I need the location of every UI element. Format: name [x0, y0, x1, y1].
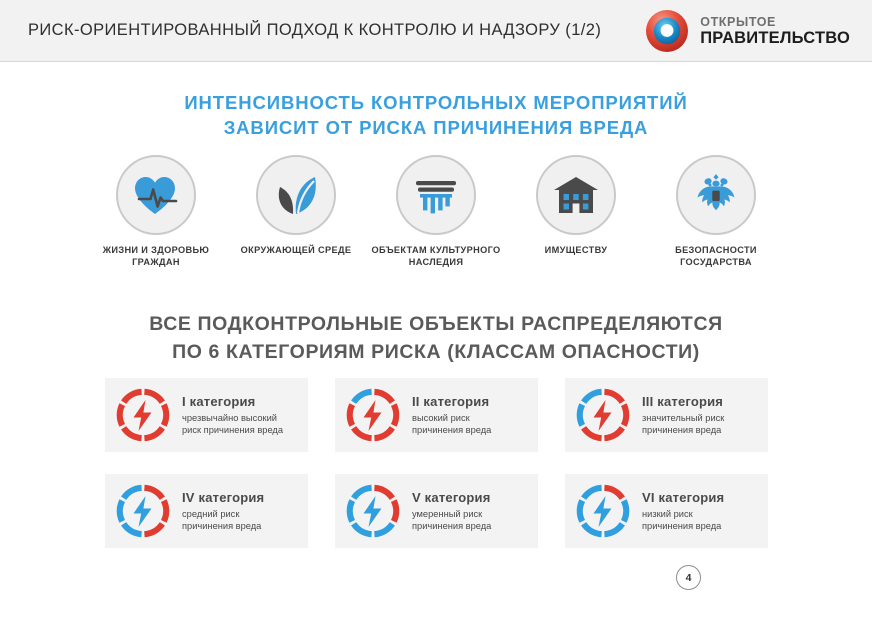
section-heading-categories: ВСЕ ПОДКОНТРОЛЬНЫЕ ОБЪЕКТЫ РАСПРЕДЕЛЯЮТС… — [0, 310, 872, 366]
harm-target-icon-circle — [676, 155, 756, 235]
section-heading-intensity: ИНТЕНСИВНОСТЬ КОНТРОЛЬНЫХ МЕРОПРИЯТИЙ ЗА… — [0, 90, 872, 140]
risk-category-desc: чрезвычайно высокийриск причинения вреда — [182, 412, 283, 437]
harm-target-icon-circle — [256, 155, 336, 235]
risk-category-card[interactable]: VI категория низкий рискпричинения вреда — [565, 474, 768, 548]
risk-dial-icon — [115, 483, 171, 539]
risk-category-title: II категория — [412, 394, 491, 409]
harm-targets-row: ЖИЗНИ И ЗДОРОВЬЮГРАЖДАН ОКРУЖАЮЩЕЙ СРЕДЕ — [0, 155, 872, 275]
brand-logo: ОТКРЫТОЕ ПРАВИТЕЛЬСТВО — [645, 9, 850, 53]
risk-category-title: III категория — [642, 394, 724, 409]
risk-category-text: I категория чрезвычайно высокийриск прич… — [182, 394, 283, 437]
risk-category-text: II категория высокий рискпричинения вред… — [412, 394, 491, 437]
logo-line-1: ОТКРЫТОЕ — [700, 16, 850, 29]
house-icon — [552, 173, 600, 217]
harm-target-label: ОКРУЖАЮЩЕЙ СРЕДЕ — [216, 244, 376, 256]
risk-category-card[interactable]: II категория высокий рискпричинения вред… — [335, 378, 538, 452]
risk-dial-icon — [345, 387, 401, 443]
logo-line-2: ПРАВИТЕЛЬСТВО — [700, 30, 850, 47]
harm-target-cultural-heritage: ОБЪЕКТАМ КУЛЬТУРНОГОНАСЛЕДИЯ — [356, 155, 516, 268]
harm-target-environment: ОКРУЖАЮЩЕЙ СРЕДЕ — [216, 155, 376, 256]
page-title: РИСК-ОРИЕНТИРОВАННЫЙ ПОДХОД К КОНТРОЛЮ И… — [28, 21, 601, 40]
harm-target-label: ЖИЗНИ И ЗДОРОВЬЮГРАЖДАН — [76, 244, 236, 268]
risk-category-card[interactable]: IV категория средний рискпричинения вред… — [105, 474, 308, 548]
classical-column-icon — [411, 173, 461, 217]
risk-category-desc: низкий рискпричинения вреда — [642, 508, 724, 533]
harm-target-icon-circle — [536, 155, 616, 235]
risk-dial-icon — [345, 483, 401, 539]
open-government-logo-icon — [645, 9, 689, 53]
risk-category-text: V категория умеренный рискпричинения вре… — [412, 490, 491, 533]
heading-grey-line-1: ВСЕ ПОДКОНТРОЛЬНЫЕ ОБЪЕКТЫ РАСПРЕДЕЛЯЮТС… — [0, 310, 872, 338]
harm-target-label: ИМУЩЕСТВУ — [496, 244, 656, 256]
risk-dial-icon — [115, 387, 171, 443]
harm-target-state-security: БЕЗОПАСНОСТИГОСУДАРСТВА — [636, 155, 796, 268]
risk-dial-icon — [575, 483, 631, 539]
risk-category-text: IV категория средний рискпричинения вред… — [182, 490, 264, 533]
risk-dial-icon — [575, 387, 631, 443]
risk-category-card[interactable]: III категория значительный рискпричинени… — [565, 378, 768, 452]
risk-category-text: III категория значительный рискпричинени… — [642, 394, 724, 437]
harm-target-property: ИМУЩЕСТВУ — [496, 155, 656, 256]
leaves-icon — [272, 173, 320, 217]
harm-target-icon-circle — [396, 155, 476, 235]
risk-category-card[interactable]: V категория умеренный рискпричинения вре… — [335, 474, 538, 548]
heading-blue-line-2: ЗАВИСИТ ОТ РИСКА ПРИЧИНЕНИЯ ВРЕДА — [0, 115, 872, 140]
page-number: 4 — [686, 572, 692, 584]
risk-category-title: V категория — [412, 490, 491, 505]
risk-category-title: VI категория — [642, 490, 724, 505]
risk-category-desc: значительный рискпричинения вреда — [642, 412, 724, 437]
harm-target-label: БЕЗОПАСНОСТИГОСУДАРСТВА — [636, 244, 796, 268]
risk-category-title: IV категория — [182, 490, 264, 505]
risk-category-text: VI категория низкий рискпричинения вреда — [642, 490, 724, 533]
brand-logo-text: ОТКРЫТОЕ ПРАВИТЕЛЬСТВО — [700, 16, 850, 47]
harm-target-icon-circle — [116, 155, 196, 235]
page-header: РИСК-ОРИЕНТИРОВАННЫЙ ПОДХОД К КОНТРОЛЮ И… — [0, 0, 872, 62]
heart-pulse-icon — [131, 173, 181, 217]
risk-category-card[interactable]: I категория чрезвычайно высокийриск прич… — [105, 378, 308, 452]
heading-grey-line-2: ПО 6 КАТЕГОРИЯМ РИСКА (КЛАССАМ ОПАСНОСТИ… — [0, 338, 872, 366]
harm-target-health: ЖИЗНИ И ЗДОРОВЬЮГРАЖДАН — [76, 155, 236, 268]
risk-category-desc: средний рискпричинения вреда — [182, 508, 264, 533]
harm-target-label: ОБЪЕКТАМ КУЛЬТУРНОГОНАСЛЕДИЯ — [356, 244, 516, 268]
double-headed-eagle-icon — [691, 172, 741, 218]
risk-category-desc: высокий рискпричинения вреда — [412, 412, 491, 437]
risk-category-title: I категория — [182, 394, 283, 409]
page-number-badge: 4 — [676, 565, 701, 590]
heading-blue-line-1: ИНТЕНСИВНОСТЬ КОНТРОЛЬНЫХ МЕРОПРИЯТИЙ — [0, 90, 872, 115]
risk-category-desc: умеренный рискпричинения вреда — [412, 508, 491, 533]
